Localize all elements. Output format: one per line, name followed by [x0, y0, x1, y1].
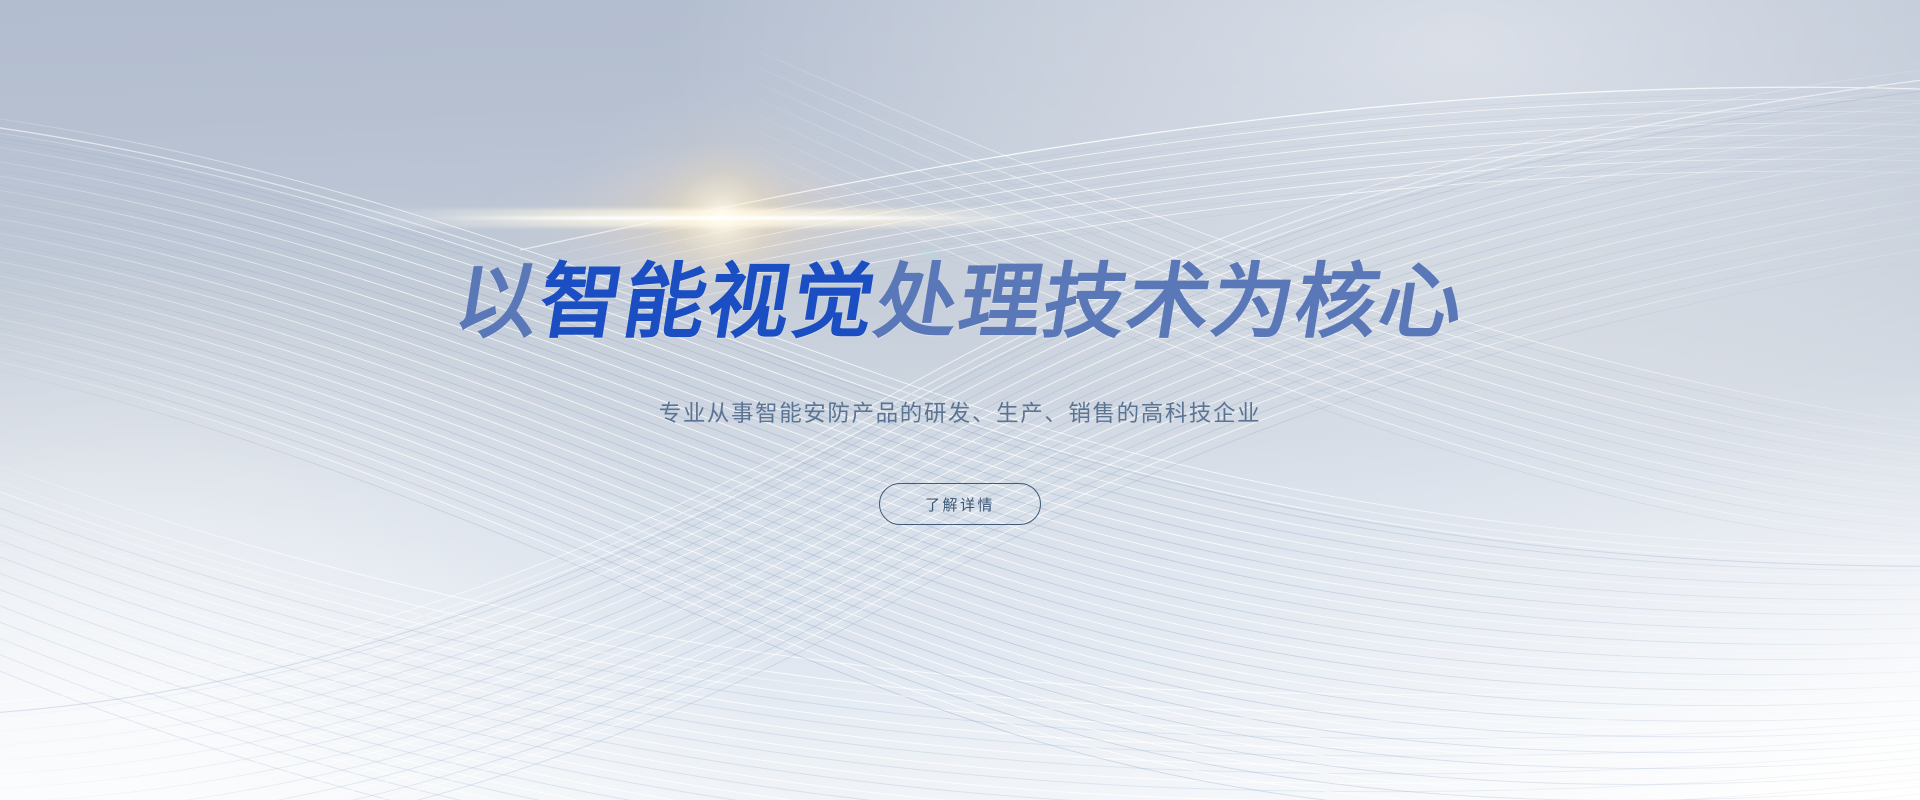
headline-segment-3: 处理技术为核心	[870, 262, 1471, 344]
hero-content: 以智能视觉处理技术为核心 专业从事智能安防产品的研发、生产、销售的高科技企业 了…	[0, 0, 1920, 800]
hero-banner: 以智能视觉处理技术为核心 专业从事智能安防产品的研发、生产、销售的高科技企业 了…	[0, 0, 1920, 800]
page-title: 以智能视觉处理技术为核心	[449, 262, 1470, 344]
learn-more-button[interactable]: 了解详情	[879, 483, 1041, 525]
hero-subtitle: 专业从事智能安防产品的研发、生产、销售的高科技企业	[659, 396, 1262, 428]
headline-segment-1: 以	[449, 262, 546, 344]
headline-segment-2-emphasis: 智能视觉	[533, 262, 882, 344]
